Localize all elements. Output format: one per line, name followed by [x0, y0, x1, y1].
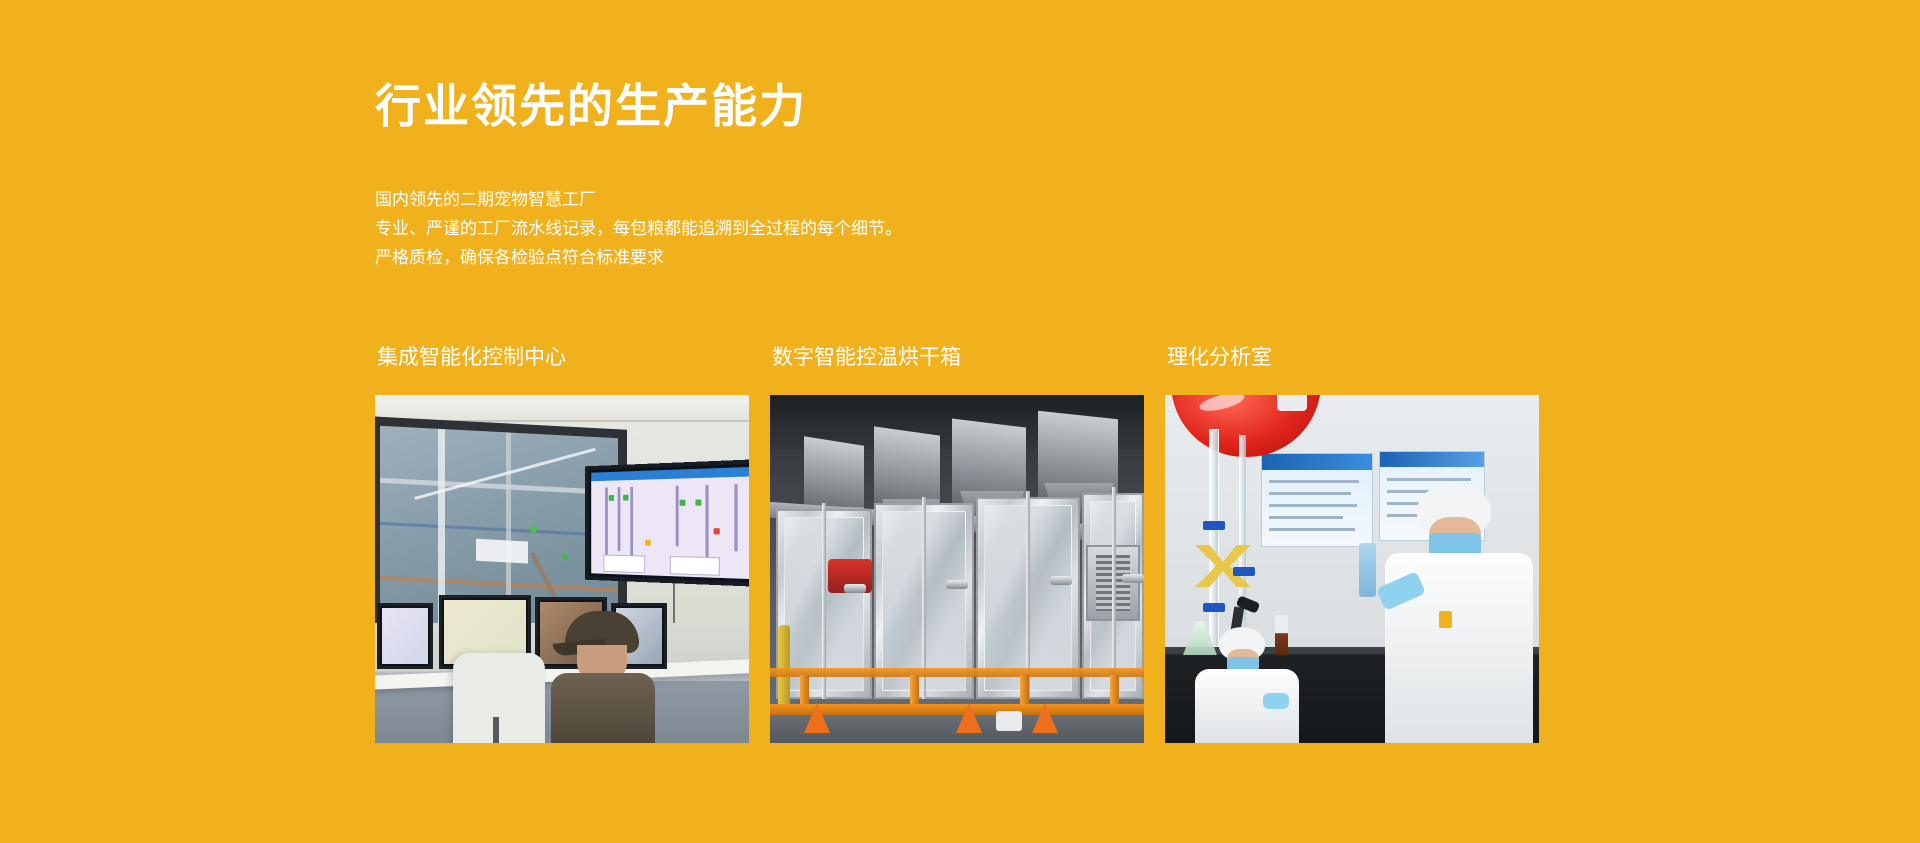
- scada-column: [705, 485, 708, 557]
- gallery-photo-drying-oven[interactable]: [770, 395, 1144, 743]
- office-chair: [453, 653, 545, 743]
- board-text-line: [1269, 516, 1343, 519]
- door-handle: [1122, 574, 1144, 583]
- scada-column: [618, 487, 621, 551]
- scada-indicator: [623, 495, 628, 501]
- burette-valve: [1233, 567, 1255, 576]
- scada-screen: [591, 467, 749, 579]
- hood-duct: [1277, 395, 1307, 411]
- status-light: [562, 553, 568, 559]
- board-header: [1380, 452, 1484, 467]
- scada-column: [605, 487, 608, 558]
- gallery-caption: 理化分析室: [1167, 345, 1539, 371]
- board-header: [1262, 454, 1372, 470]
- board-text-line: [1269, 492, 1351, 495]
- traffic-cone: [1032, 703, 1058, 733]
- scada-indicator: [609, 495, 614, 501]
- gallery-item-control-center[interactable]: 集成智能化控制中心: [375, 345, 749, 743]
- intro-line-3: 严格质检，确保各检验点符合标准要求: [375, 243, 902, 272]
- board-text-line: [1269, 480, 1359, 483]
- scada-column: [630, 487, 633, 559]
- floor-bucket: [996, 711, 1022, 731]
- burette-valve: [1203, 521, 1225, 530]
- scada-panel: [670, 556, 720, 576]
- gallery-caption: 数字智能控温烘干箱: [772, 345, 1144, 371]
- plant-equipment: [476, 539, 528, 564]
- traffic-cone: [804, 703, 830, 733]
- scada-column: [676, 486, 679, 547]
- status-light: [530, 526, 537, 533]
- scada-indicator: [714, 528, 720, 534]
- door-handle: [946, 580, 968, 589]
- gallery-photo-lab[interactable]: [1165, 395, 1539, 743]
- door-handle: [844, 584, 866, 593]
- operator-monitor: [377, 603, 433, 669]
- intro-line-2: 专业、严谨的工厂流水线记录，每包粮都能追溯到全过程的每个细节。: [375, 214, 902, 243]
- board-text-line: [1269, 504, 1357, 507]
- ceiling: [375, 395, 749, 421]
- chair-leg: [493, 717, 499, 743]
- board-text-line: [1387, 478, 1471, 481]
- operator-figure: [551, 611, 655, 743]
- gallery: 集成智能化控制中心: [375, 345, 1539, 743]
- info-board: [1261, 453, 1373, 547]
- gallery-caption: 集成智能化控制中心: [377, 345, 749, 371]
- nitrile-glove: [1263, 693, 1289, 709]
- test-tube: [1359, 543, 1376, 597]
- gallery-item-drying-oven[interactable]: 数字智能控温烘干箱: [770, 345, 1144, 743]
- board-text-line: [1269, 528, 1355, 531]
- intro-line-1: 国内领先的二期宠物智慧工厂: [375, 185, 902, 214]
- door-handle: [1050, 576, 1072, 585]
- scada-indicator: [645, 540, 651, 546]
- lab-technician-background: [1195, 627, 1299, 743]
- safety-rail: [770, 668, 1144, 677]
- plant-beam: [380, 576, 618, 592]
- traffic-cone: [956, 703, 982, 733]
- coat-badge: [1439, 611, 1452, 628]
- scada-indicator: [695, 499, 701, 505]
- scada-column: [734, 484, 737, 551]
- page-title: 行业领先的生产能力: [375, 79, 807, 134]
- scada-panel: [603, 555, 645, 574]
- lab-technician-foreground: [1385, 483, 1533, 743]
- intro-paragraph: 国内领先的二期宠物智慧工厂 专业、严谨的工厂流水线记录，每包粮都能追溯到全过程的…: [375, 185, 902, 272]
- hero-section: 行业领先的生产能力 国内领先的二期宠物智慧工厂 专业、严谨的工厂流水线记录，每包…: [0, 0, 1920, 843]
- gallery-photo-control-center[interactable]: [375, 395, 749, 743]
- hood-highlight: [1198, 395, 1246, 414]
- scada-titlebar: [591, 467, 749, 481]
- scada-indicator: [680, 500, 686, 506]
- plant-beam: [380, 522, 618, 537]
- operator-torso: [551, 673, 655, 743]
- gallery-item-lab[interactable]: 理化分析室: [1165, 345, 1539, 743]
- wall-scada-display: [585, 459, 749, 586]
- plant-beam: [380, 478, 618, 495]
